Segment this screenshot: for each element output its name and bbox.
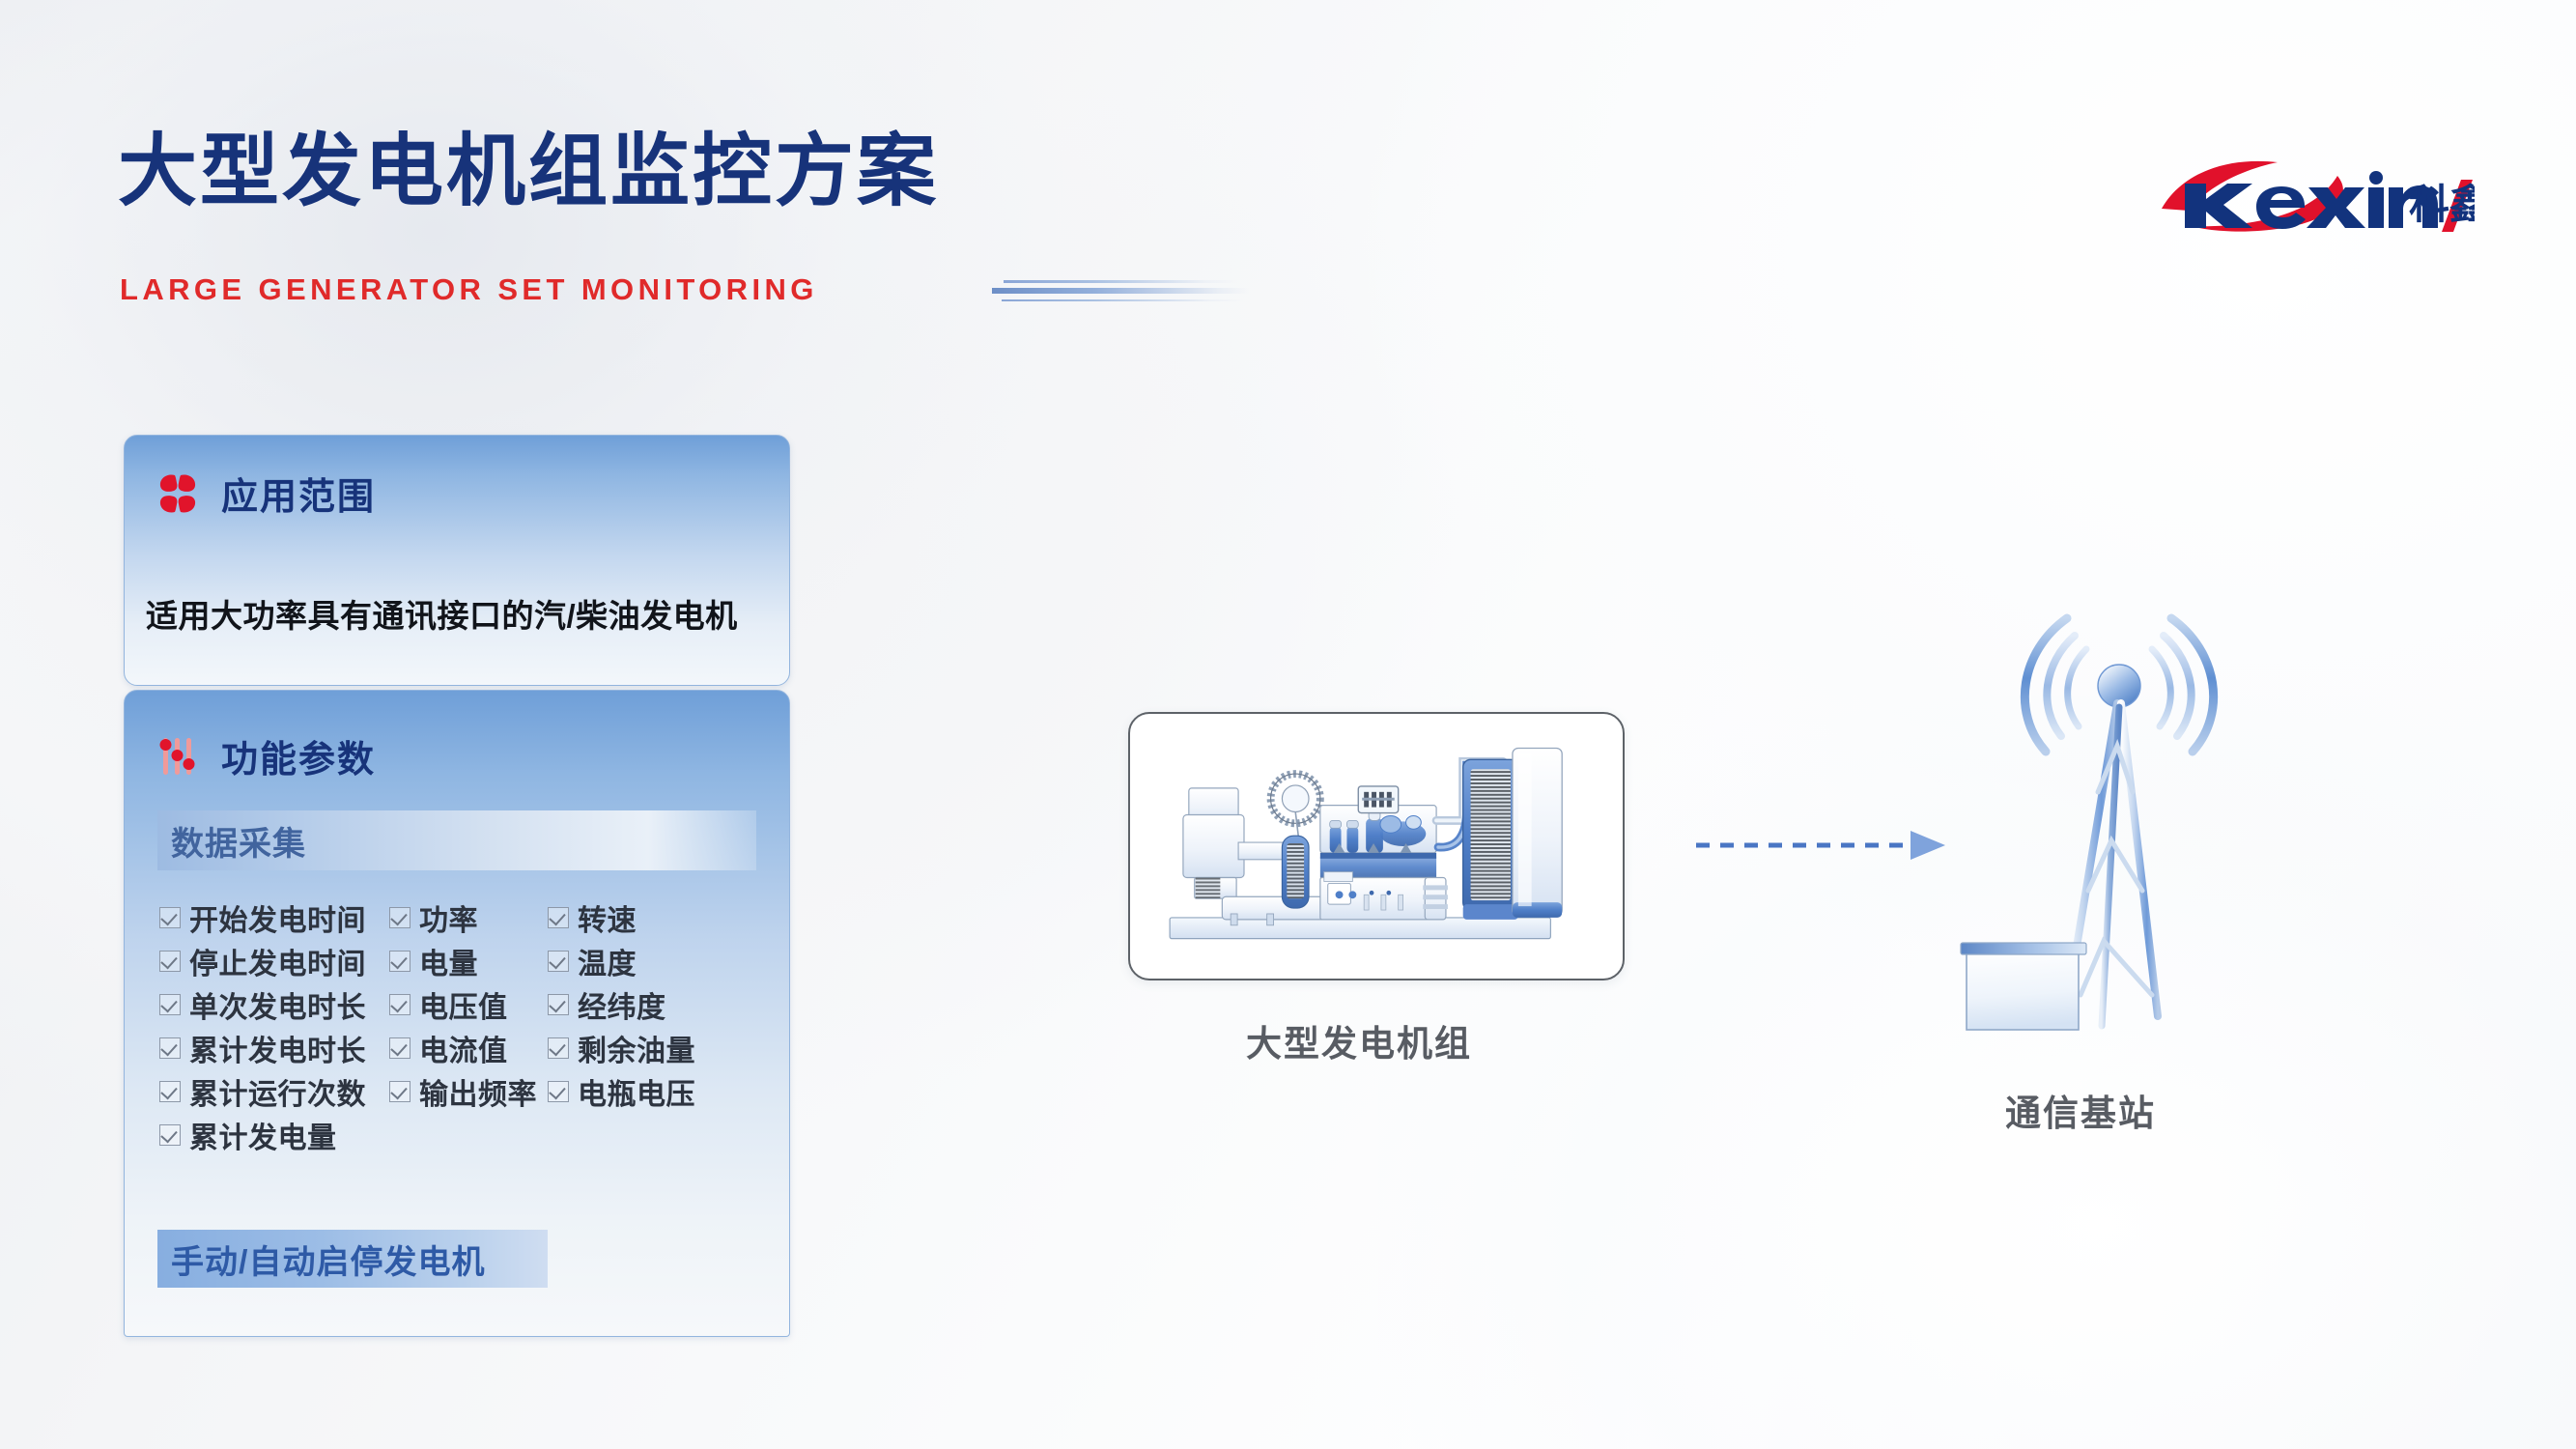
list-item[interactable]: 累计发电量 xyxy=(159,1113,389,1156)
page-title: 大型发电机组监控方案 xyxy=(118,132,939,212)
list-item-label: 温度 xyxy=(578,940,637,982)
list-item[interactable]: 开始发电时间 xyxy=(159,895,389,939)
list-item[interactable]: 转速 xyxy=(548,895,758,939)
list-item[interactable]: 电压值 xyxy=(389,982,548,1026)
checkbox-icon[interactable] xyxy=(389,994,410,1015)
list-item-label: 单次发电时长 xyxy=(189,983,366,1026)
checkbox-icon[interactable] xyxy=(389,1081,410,1102)
generator-set-card xyxy=(1128,712,1625,980)
list-item-label: 停止发电时间 xyxy=(189,940,366,982)
list-item[interactable]: 经纬度 xyxy=(548,982,758,1026)
list-item-label: 转速 xyxy=(578,896,637,939)
checkbox-icon[interactable] xyxy=(159,951,181,972)
list-item-label: 功率 xyxy=(419,896,478,939)
checkbox-icon[interactable] xyxy=(548,994,569,1015)
list-item[interactable]: 电量 xyxy=(389,939,548,982)
basestation-label: 通信基站 xyxy=(2005,1084,2156,1136)
list-item-label: 输出频率 xyxy=(419,1070,537,1113)
list-item[interactable]: 单次发电时长 xyxy=(159,982,389,1026)
list-item[interactable]: 累计发电时长 xyxy=(159,1026,389,1069)
checkbox-icon[interactable] xyxy=(389,1037,410,1059)
checkbox-icon[interactable] xyxy=(548,907,569,928)
scope-heading-row: 应用范围 xyxy=(156,467,376,520)
checkbox-icon[interactable] xyxy=(548,1081,569,1102)
scope-heading-label: 应用范围 xyxy=(221,467,376,520)
list-item-label: 累计发电时长 xyxy=(189,1027,366,1069)
checkbox-icon[interactable] xyxy=(389,951,410,972)
checkbox-icon[interactable] xyxy=(389,907,410,928)
scope-body-text: 适用大功率具有通讯接口的汽/柴油发电机 xyxy=(146,590,738,637)
page-subtitle: LARGE GENERATOR SET MONITORING xyxy=(120,272,818,307)
list-item[interactable]: 电流值 xyxy=(389,1026,548,1069)
band-manual-auto-control: 手动/自动启停发电机 xyxy=(157,1230,548,1288)
panel-function-parameters: 功能参数 数据采集 开始发电时间 功率 转速 停止发电时间 电量 温度 单次发电… xyxy=(124,690,790,1337)
checkbox-icon[interactable] xyxy=(159,1037,181,1059)
clover-flower-icon xyxy=(156,471,200,516)
cell-tower-icon xyxy=(1951,591,2337,1045)
checkbox-icon[interactable] xyxy=(159,1081,181,1102)
function-heading-row: 功能参数 xyxy=(156,729,376,782)
list-item-label: 经纬度 xyxy=(578,983,666,1026)
generator-set-icon xyxy=(1130,714,1623,979)
dashed-arrow-right-icon xyxy=(1692,825,1951,866)
subtitle-decorative-rule xyxy=(992,278,1253,303)
slide-root: 大型发电机组监控方案 LARGE GENERATOR SET MONITORIN… xyxy=(0,0,2576,1449)
list-item[interactable]: 输出频率 xyxy=(389,1069,548,1113)
list-item-label: 电压值 xyxy=(419,983,508,1026)
list-item-label: 剩余油量 xyxy=(578,1027,695,1069)
list-item[interactable]: 电瓶电压 xyxy=(548,1069,758,1113)
checkbox-icon[interactable] xyxy=(159,907,181,928)
list-item-label: 开始发电时间 xyxy=(189,896,366,939)
list-item[interactable]: 温度 xyxy=(548,939,758,982)
band-data-collection: 数据采集 xyxy=(157,810,756,870)
kexin-logo: 科鑫 xyxy=(2156,155,2475,238)
checkbox-icon[interactable] xyxy=(548,951,569,972)
list-item[interactable]: 功率 xyxy=(389,895,548,939)
function-heading-label: 功能参数 xyxy=(221,729,376,782)
list-item-label: 电瓶电压 xyxy=(578,1070,695,1113)
list-item[interactable]: 剩余油量 xyxy=(548,1026,758,1069)
generator-label: 大型发电机组 xyxy=(1246,1014,1472,1066)
parameter-checkbox-grid: 开始发电时间 功率 转速 停止发电时间 电量 温度 单次发电时长 电压值 经纬度… xyxy=(159,895,758,1156)
list-item-label: 电流值 xyxy=(419,1027,508,1069)
list-item-label: 累计运行次数 xyxy=(189,1070,366,1113)
checkbox-icon[interactable] xyxy=(548,1037,569,1059)
logo-cn-text: 科鑫 xyxy=(2409,182,2475,227)
list-item[interactable]: 累计运行次数 xyxy=(159,1069,389,1113)
panel-application-scope: 应用范围 适用大功率具有通讯接口的汽/柴油发电机 xyxy=(124,435,790,686)
list-item-label: 累计发电量 xyxy=(189,1114,337,1156)
list-item-label: 电量 xyxy=(419,940,478,982)
list-item[interactable]: 停止发电时间 xyxy=(159,939,389,982)
sliders-icon xyxy=(156,734,200,779)
checkbox-icon[interactable] xyxy=(159,994,181,1015)
checkbox-icon[interactable] xyxy=(159,1124,181,1146)
